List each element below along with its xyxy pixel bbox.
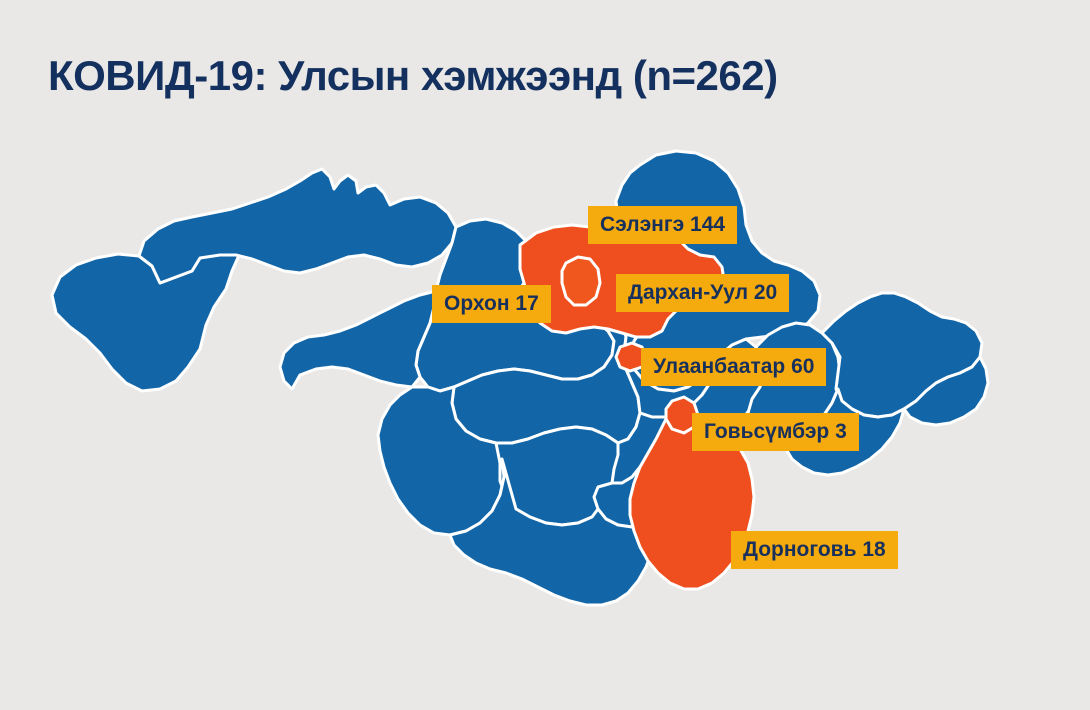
page-title: КОВИД-19: Улсын хэмжээнд (n=262) — [48, 52, 778, 100]
callout-orkhon[interactable]: Орхон 17 — [432, 285, 551, 323]
callout-selenge-label: Сэлэнгэ 144 — [600, 213, 725, 236]
province-uvs[interactable] — [139, 169, 456, 283]
callout-darkhan-uul-label: Дархан-Уул 20 — [628, 281, 777, 304]
callout-ulaanbaatar-label: Улаанбаатар 60 — [653, 355, 814, 378]
callout-orkhon-label: Орхон 17 — [444, 292, 539, 315]
callout-govisumber[interactable]: Говьсүмбэр 3 — [692, 413, 859, 451]
map-svg — [0, 125, 1090, 665]
callout-dornogovi[interactable]: Дорноговь 18 — [731, 531, 898, 569]
province-govi-altai[interactable] — [280, 291, 436, 389]
callout-dornogovi-label: Дорноговь 18 — [743, 538, 886, 561]
callout-selenge[interactable]: Сэлэнгэ 144 — [588, 206, 737, 244]
callout-darkhan-uul[interactable]: Дархан-Уул 20 — [616, 274, 789, 312]
slide-root: КОВИД-19: Улсын хэмжээнд (n=262) — [0, 0, 1090, 710]
province-darkhan-uul[interactable] — [562, 257, 600, 305]
callout-ulaanbaatar[interactable]: Улаанбаатар 60 — [641, 348, 826, 386]
mongolia-map — [0, 125, 1090, 665]
callout-govisumber-label: Говьсүмбэр 3 — [704, 420, 847, 443]
